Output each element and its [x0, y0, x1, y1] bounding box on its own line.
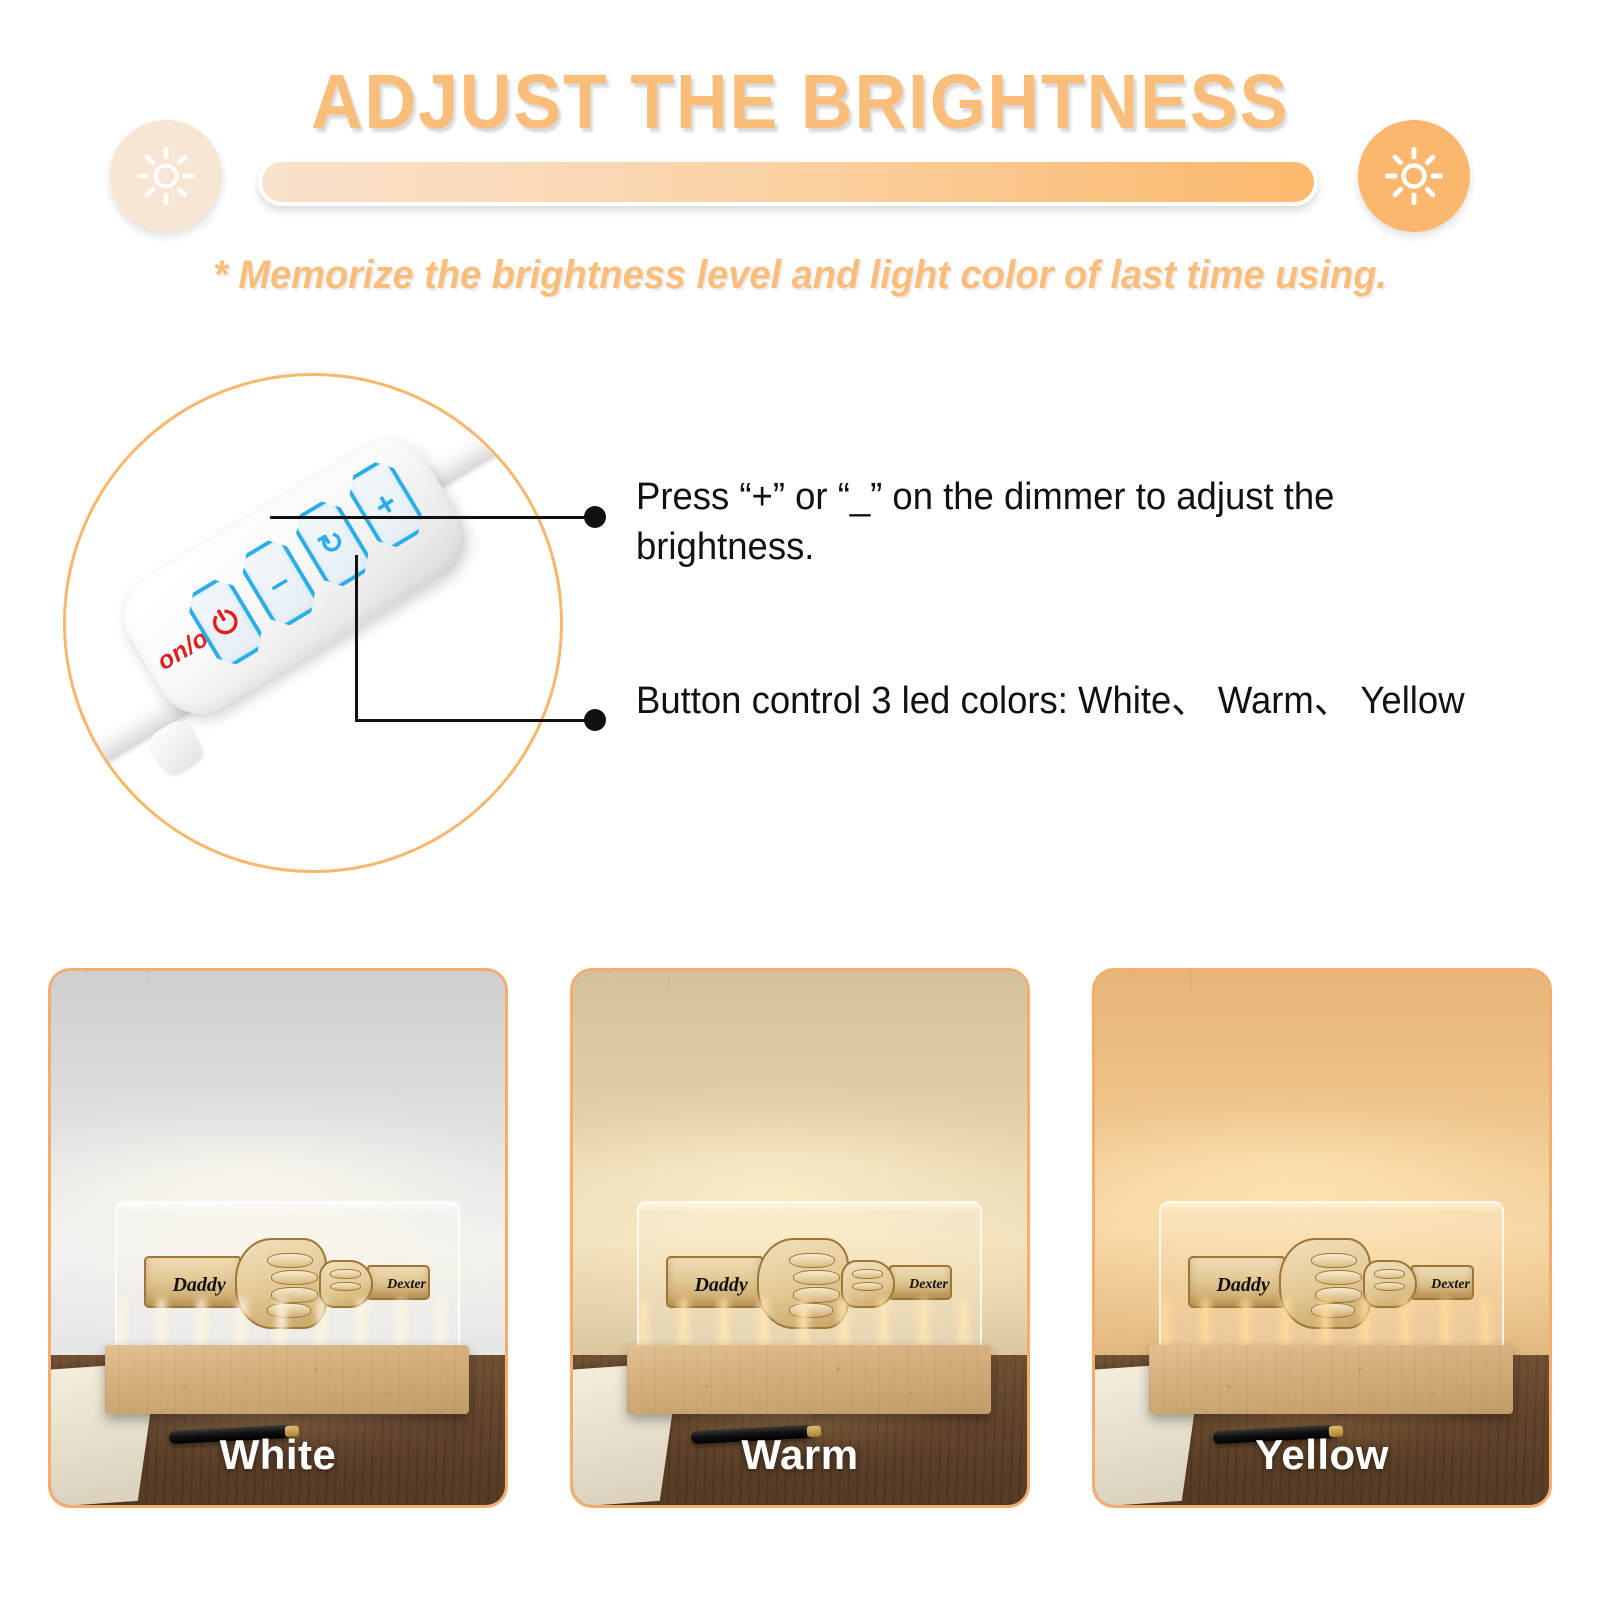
dimmer-section: on/off ⏻ – ↻ + [0, 355, 1600, 900]
callout-line-colors-vertical [355, 555, 358, 721]
dimmer-photo-circle: on/off ⏻ – ↻ + [63, 373, 563, 873]
name-label-large: Daddy [1216, 1274, 1269, 1297]
name-label-large: Daddy [172, 1274, 225, 1297]
name-label-large: Daddy [694, 1274, 747, 1297]
acrylic-plaque: Daddy Dexter [115, 1201, 460, 1351]
wooden-base [105, 1345, 468, 1414]
photo-label-white: White [51, 1431, 505, 1479]
wooden-base [1149, 1345, 1512, 1414]
power-icon: ⏻ [206, 602, 244, 642]
callout-text-colors: Button control 3 led colors: White、 Warm… [636, 676, 1481, 726]
wooden-base [627, 1345, 990, 1414]
plaque-led-strip [117, 1299, 458, 1348]
color-cycle-icon: ↻ [314, 524, 351, 563]
header-banner: ADJUST THE BRIGHTNESS [0, 0, 1600, 330]
dimmer-control-body: on/off ⏻ – ↻ + [108, 424, 481, 730]
plaque-top-glow [1161, 1203, 1502, 1213]
name-label-small: Dexter [909, 1277, 948, 1293]
callout-dot-colors [584, 709, 606, 731]
memorize-note: * Memorize the brightness level and ligh… [40, 253, 1560, 298]
callout-line-colors [355, 719, 595, 722]
acrylic-plaque: Daddy Dexter [637, 1201, 982, 1351]
photo-label-yellow: Yellow [1095, 1431, 1549, 1479]
base-grain [105, 1345, 468, 1414]
name-label-small: Dexter [387, 1277, 426, 1293]
plaque-led-strip [1161, 1299, 1502, 1348]
sun-icon-low [110, 120, 222, 232]
sun-icon-high [1358, 120, 1470, 232]
photo-warm[interactable]: Daddy Dexter Warm [570, 968, 1030, 1508]
plaque-top-glow [117, 1203, 458, 1213]
color-preview-gallery: Daddy Dexter White [0, 968, 1600, 1513]
callout-dot-brightness [584, 506, 606, 528]
callout-line-brightness [270, 516, 595, 519]
brightness-slider[interactable] [258, 158, 1318, 206]
base-grain [1149, 1345, 1512, 1414]
plaque-led-strip [639, 1299, 980, 1348]
base-grain [627, 1345, 990, 1414]
plaque-top-glow [639, 1203, 980, 1213]
page-title: ADJUST THE BRIGHTNESS [56, 58, 1544, 147]
photo-label-warm: Warm [573, 1431, 1027, 1479]
name-label-small: Dexter [1431, 1277, 1470, 1293]
photo-white[interactable]: Daddy Dexter White [48, 968, 508, 1508]
minus-icon: – [262, 563, 296, 602]
callout-text-brightness: Press “+” or “_” on the dimmer to adjust… [636, 472, 1471, 572]
photo-yellow[interactable]: Daddy Dexter Yellow [1092, 968, 1552, 1508]
acrylic-plaque: Daddy Dexter [1159, 1201, 1504, 1351]
